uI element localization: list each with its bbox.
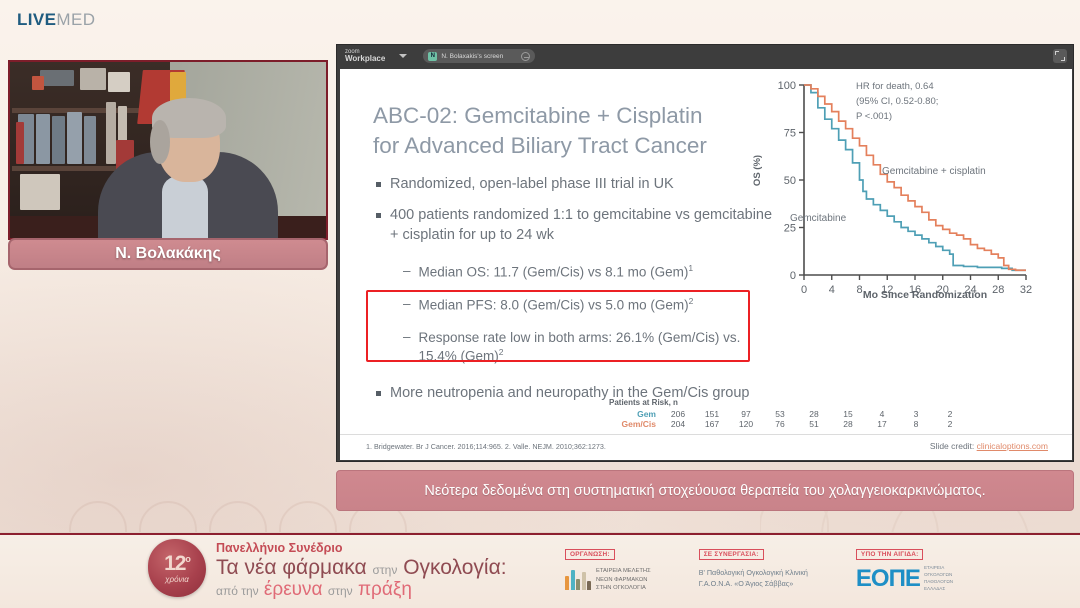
- risk-cell: 51: [797, 419, 831, 429]
- patients-at-risk-table: Patients at Risk, n Gem20615197532815432…: [609, 398, 1029, 429]
- eope-logo: ΕΟΠΕ ΕΤΑΙΡΕΙΑ ΟΓΚΟΛΟΓΩΝ ΠΑΘΟΛΟΓΩΝ ΕΛΛΑΔΑ…: [856, 565, 953, 593]
- zoom-app-brand: zoom Workplace: [345, 49, 385, 64]
- participant-avatar-icon: N: [428, 52, 437, 61]
- banner-title-block: Πανελλήνιο Συνέδριο Τα νέα φάρμακα στην …: [216, 541, 507, 601]
- footnote-ref: 2: [689, 296, 694, 306]
- screen-share-window[interactable]: zoom Workplace N N. Bolaxakis's screen A…: [336, 44, 1074, 462]
- speaker-video-tile[interactable]: [8, 60, 328, 240]
- dash-bullet-icon: –: [403, 262, 411, 282]
- sponsor-auspices-heading: ΥΠΟ ΤΗΝ ΑΙΓΙΔΑ:: [856, 549, 924, 560]
- kaplan-meier-chart: 0255075100 048121620242832 HR for death,…: [758, 73, 1068, 423]
- livemed-logo[interactable]: LIVEMED: [17, 10, 95, 30]
- slide-bullet-list: Randomized, open-label phase III trial i…: [376, 175, 776, 416]
- risk-cell: 28: [831, 419, 865, 429]
- sponsor-organizer: ΟΡΓΑΝΩΣΗ: ΕΤΑΙΡΕΙΑ ΜΕΛΕΤΗΣ ΝΕΩΝ ΦΑΡΜΑΚΩΝ…: [565, 543, 651, 593]
- risk-cell: 97: [729, 409, 763, 419]
- logo-med-text: MED: [56, 10, 95, 29]
- slide-title: ABC-02: Gemcitabine + Cisplatin for Adva…: [373, 101, 793, 160]
- session-caption-bar: Νεότερα δεδομένα στη συστηματική στοχεύο…: [336, 470, 1074, 511]
- sponsor-organizer-heading: ΟΡΓΑΝΩΣΗ:: [565, 549, 615, 560]
- risk-cell: 206: [661, 409, 695, 419]
- dash-bullet-icon: –: [403, 295, 411, 315]
- bullet-item: Randomized, open-label phase III trial i…: [376, 175, 776, 194]
- risk-cell: 120: [729, 419, 763, 429]
- bullet-item: 400 patients randomized 1:1 to gemcitabi…: [376, 206, 776, 245]
- svg-text:75: 75: [784, 128, 796, 140]
- speaker-hair-side: [150, 120, 170, 164]
- sponsor-organizer-body: ΕΤΑΙΡΕΙΑ ΜΕΛΕΤΗΣ ΝΕΩΝ ΦΑΡΜΑΚΩΝ ΣΤΗΝ ΟΓΚΟ…: [565, 567, 651, 593]
- expand-icon[interactable]: [1053, 49, 1067, 63]
- logo-live-text: LIVE: [17, 10, 56, 29]
- zoom-app-name-text: Workplace: [345, 55, 385, 63]
- risk-cell: 15: [831, 409, 865, 419]
- hr-line-3: P <.001): [856, 109, 986, 124]
- slide-footer: 1. Bridgewater. Br J Cancer. 2016;114:96…: [340, 434, 1072, 460]
- banner-line3-a: από την: [216, 584, 259, 598]
- hr-line-1: HR for death, 0.64: [856, 79, 986, 94]
- eope-subtitle-text: ΕΤΑΙΡΕΙΑ ΟΓΚΟΛΟΓΩΝ ΠΑΘΟΛΟΓΩΝ ΕΛΛΑΔΑΣ: [924, 565, 953, 593]
- dash-bullet-icon: –: [403, 328, 411, 366]
- risk-row: Gem/Cis2041671207651281782: [609, 419, 1029, 429]
- banner-top-rule: [0, 533, 1080, 535]
- risk-row-label: Gem/Cis: [609, 419, 661, 429]
- banner-line-3: από την έρευνα στην πράξη: [216, 580, 507, 601]
- footnote-ref: 1: [688, 263, 693, 273]
- speaker-name-text: Ν. Βολακάκης: [115, 245, 221, 263]
- video-frame: [10, 62, 326, 238]
- sub-bullet-item-os: – Median OS: 11.7 (Gem/Cis) vs 8.1 mo (G…: [403, 263, 776, 282]
- page-root: LIVEMED: [0, 0, 1080, 608]
- slide-title-line-2: for Advanced Biliary Tract Cancer: [373, 131, 793, 161]
- risk-cell: 151: [695, 409, 729, 419]
- banner-line-1: Πανελλήνιο Συνέδριο: [216, 541, 507, 555]
- slide-credit: Slide credit: clinicaloptions.com: [930, 441, 1048, 451]
- series-label-gemcitabine: Gemcitabine: [790, 213, 846, 224]
- footnote-ref: 2: [499, 347, 504, 357]
- congress-banner: 12ο χρόνια Πανελλήνιο Συνέδριο Τα νέα φά…: [0, 532, 1080, 608]
- session-caption-text: Νεότερα δεδομένα στη συστηματική στοχεύο…: [424, 483, 985, 499]
- square-bullet-icon: [376, 391, 381, 396]
- svg-text:0: 0: [801, 284, 807, 296]
- speaker-nameplate: Ν. Βολακάκης: [8, 238, 328, 270]
- risk-cell: 4: [865, 409, 899, 419]
- square-bullet-icon: [376, 182, 381, 187]
- risk-cell: 204: [661, 419, 695, 429]
- slide-title-line-1: ABC-02: Gemcitabine + Cisplatin: [373, 101, 793, 131]
- banner-line2-b: στην: [373, 563, 398, 577]
- screen-share-toolbar[interactable]: zoom Workplace N N. Bolaxakis's screen: [337, 45, 1073, 67]
- square-bullet-icon: [376, 213, 381, 218]
- svg-text:50: 50: [784, 175, 796, 187]
- risk-cell: 53: [763, 409, 797, 419]
- sub-bullet-text: Median PFS: 8.0 (Gem/Cis) vs 5.0 mo (Gem…: [419, 296, 694, 315]
- presentation-slide: ABC-02: Gemcitabine + Cisplatin for Adva…: [340, 69, 1072, 460]
- svg-text:0: 0: [790, 270, 796, 282]
- svg-text:100: 100: [778, 80, 796, 92]
- y-axis-title: OS (%): [752, 155, 763, 186]
- sponsor-collaboration-text: Β' Παθολογική Ογκολογική Κλινική Γ.Α.Ο.Ν…: [699, 567, 808, 589]
- seal-years-text: χρόνια: [165, 575, 189, 584]
- minimize-icon[interactable]: [521, 52, 530, 61]
- shared-screen-tab[interactable]: N N. Bolaxakis's screen: [423, 49, 535, 63]
- anniversary-seal-icon: 12ο χρόνια: [148, 539, 206, 597]
- sub-bullet-item-pfs: – Median PFS: 8.0 (Gem/Cis) vs 5.0 mo (G…: [403, 296, 776, 315]
- banner-line2-c: Ογκολογία:: [403, 556, 506, 579]
- risk-cell: 28: [797, 409, 831, 419]
- patients-at-risk-title: Patients at Risk, n: [609, 398, 1029, 407]
- risk-cell: 2: [933, 409, 967, 419]
- risk-row: Gem20615197532815432: [609, 409, 1029, 419]
- seal-number: 12ο: [164, 553, 190, 574]
- banner-line3-c: στην: [328, 584, 353, 598]
- banner-line2-a: Τα νέα φάρμακα: [216, 556, 367, 579]
- hr-line-2: (95% CI, 0.52-0.80;: [856, 94, 986, 109]
- banner-line3-b: έρευνα: [264, 579, 323, 600]
- sponsor-collaboration-heading: ΣΕ ΣΥΝΕΡΓΑΣΙΑ:: [699, 549, 764, 560]
- bullet-text: Randomized, open-label phase III trial i…: [390, 175, 674, 194]
- eope-mark-text: ΕΟΠΕ: [856, 567, 920, 591]
- emefa-bars-icon: [565, 570, 591, 590]
- banner-line3-d: πράξη: [358, 579, 412, 600]
- banner-line-2: Τα νέα φάρμακα στην Ογκολογία:: [216, 556, 507, 579]
- x-axis-title: Mo Since Randomization: [810, 289, 1040, 301]
- shared-screen-tab-label: N. Bolaxakis's screen: [441, 53, 503, 60]
- risk-cell: 76: [763, 419, 797, 429]
- sponsor-logos: ΟΡΓΑΝΩΣΗ: ΕΤΑΙΡΕΙΑ ΜΕΛΕΤΗΣ ΝΕΩΝ ΦΑΡΜΑΚΩΝ…: [565, 543, 953, 593]
- chevron-down-icon[interactable]: [399, 54, 407, 58]
- speaker-shirt: [162, 176, 208, 238]
- sponsor-collaboration: ΣΕ ΣΥΝΕΡΓΑΣΙΑ: Β' Παθολογική Ογκολογική …: [699, 543, 808, 593]
- risk-cell: 167: [695, 419, 729, 429]
- hazard-ratio-annotation: HR for death, 0.64 (95% CI, 0.52-0.80; P…: [856, 79, 986, 124]
- risk-rows-container: Gem20615197532815432Gem/Cis2041671207651…: [609, 409, 1029, 429]
- slide-citation: 1. Bridgewater. Br J Cancer. 2016;114:96…: [366, 442, 606, 451]
- risk-cell: 2: [933, 419, 967, 429]
- slide-credit-label: Slide credit:: [930, 441, 977, 451]
- sub-bullet-item-rr: – Response rate low in both arms: 26.1% …: [403, 329, 776, 366]
- slide-credit-link[interactable]: clinicaloptions.com: [977, 441, 1048, 451]
- bullet-text: 400 patients randomized 1:1 to gemcitabi…: [390, 206, 776, 245]
- risk-cell: 3: [899, 409, 933, 419]
- sub-bullet-text: Response rate low in both arms: 26.1% (G…: [419, 329, 776, 366]
- sponsor-organizer-text: ΕΤΑΙΡΕΙΑ ΜΕΛΕΤΗΣ ΝΕΩΝ ΦΑΡΜΑΚΩΝ ΣΤΗΝ ΟΓΚΟ…: [596, 567, 651, 593]
- risk-row-label: Gem: [609, 409, 661, 419]
- risk-cell: 17: [865, 419, 899, 429]
- svg-text:25: 25: [784, 223, 796, 235]
- risk-cell: 8: [899, 419, 933, 429]
- series-label-gemcitabine-cisplatin: Gemcitabine + cisplatin: [882, 166, 986, 177]
- sponsor-auspices: ΥΠΟ ΤΗΝ ΑΙΓΙΔΑ: ΕΟΠΕ ΕΤΑΙΡΕΙΑ ΟΓΚΟΛΟΓΩΝ …: [856, 543, 953, 593]
- sub-bullet-text: Median OS: 11.7 (Gem/Cis) vs 8.1 mo (Gem…: [419, 263, 694, 282]
